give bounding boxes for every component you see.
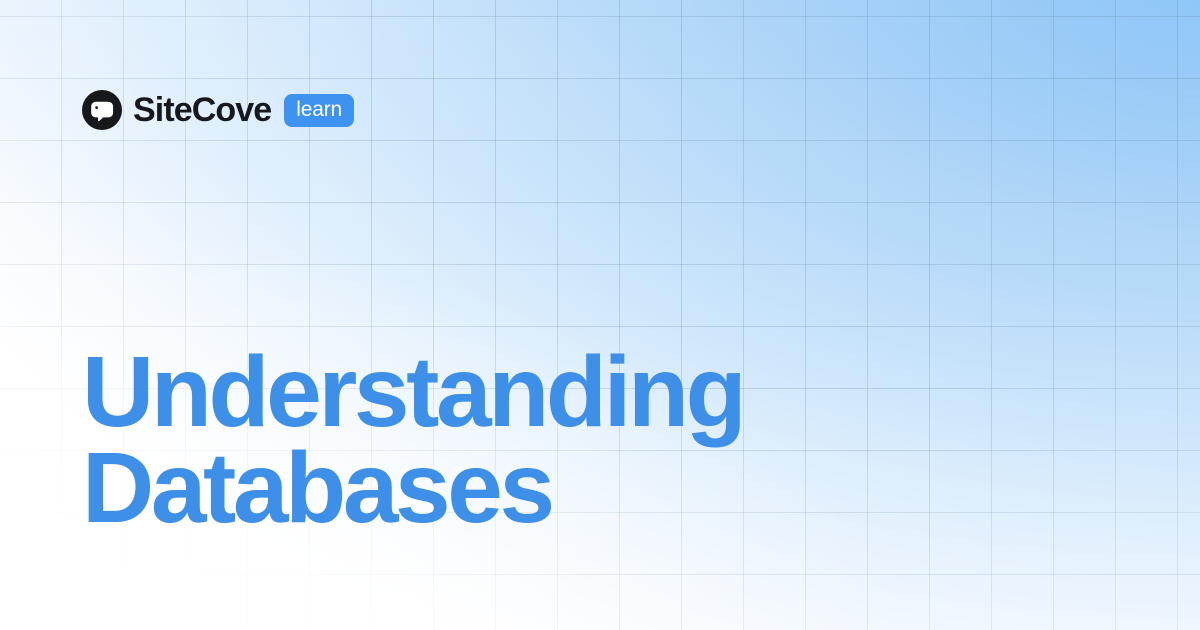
brand-name: SiteCove	[133, 93, 271, 127]
brand-lockup: SiteCove learn	[82, 88, 354, 132]
sitecove-speech-bubble-logo-icon	[82, 90, 122, 130]
og-card: SiteCove learn Understanding Databases	[0, 0, 1200, 630]
brand-badge-learn[interactable]: learn	[284, 94, 354, 127]
page-title: Understanding Databases	[82, 344, 982, 536]
